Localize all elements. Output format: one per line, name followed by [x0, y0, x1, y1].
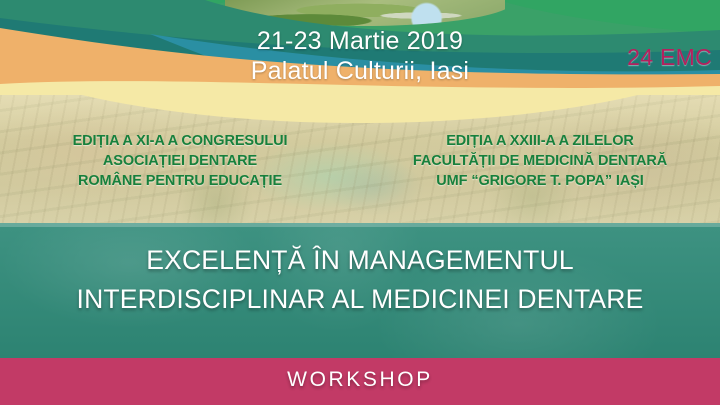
top-wave-band: 21-23 Martie 2019 Palatul Culturii, Iasi… [0, 0, 720, 100]
workshop-banner: WORKSHOP [0, 358, 720, 405]
organizer-right-line-3: UMF “GRIGORE T. POPA” IAȘI [360, 171, 720, 191]
organizer-left-line-1: EDIȚIA A XI-A A CONGRESULUI [0, 131, 360, 151]
event-date: 21-23 Martie 2019 [0, 26, 720, 56]
main-title-line-1: EXCELENȚĂ ÎN MANAGEMENTUL [0, 241, 720, 280]
banner-top-edge [0, 223, 720, 227]
conference-poster: 21-23 Martie 2019 Palatul Culturii, Iasi… [0, 0, 720, 405]
event-venue: Palatul Culturii, Iasi [0, 56, 720, 86]
workshop-label: WORKSHOP [0, 367, 720, 392]
organizer-right-line-2: FACULTĂȚII DE MEDICINĂ DENTARĂ [360, 151, 720, 171]
main-title-banner: EXCELENȚĂ ÎN MANAGEMENTUL INTERDISCIPLIN… [0, 223, 720, 358]
organizer-right-line-1: EDIȚIA A XXIII-A A ZILELOR [360, 131, 720, 151]
background-photo-band: EDIȚIA A XI-A A CONGRESULUI ASOCIAȚIEI D… [0, 95, 720, 223]
organizer-column-left: EDIȚIA A XI-A A CONGRESULUI ASOCIAȚIEI D… [0, 131, 360, 191]
main-title-line-2: INTERDISCIPLINAR AL MEDICINEI DENTARE [0, 280, 720, 319]
emc-credits-badge: 24 EMC [627, 44, 712, 70]
organizer-left-line-2: ASOCIAȚIEI DENTARE [0, 151, 360, 171]
event-date-venue: 21-23 Martie 2019 Palatul Culturii, Iasi [0, 26, 720, 86]
organizer-column-right: EDIȚIA A XXIII-A A ZILELOR FACULTĂȚII DE… [360, 131, 720, 191]
organizer-left-line-3: ROMÂNE PENTRU EDUCAȚIE [0, 171, 360, 191]
main-title: EXCELENȚĂ ÎN MANAGEMENTUL INTERDISCIPLIN… [0, 241, 720, 319]
